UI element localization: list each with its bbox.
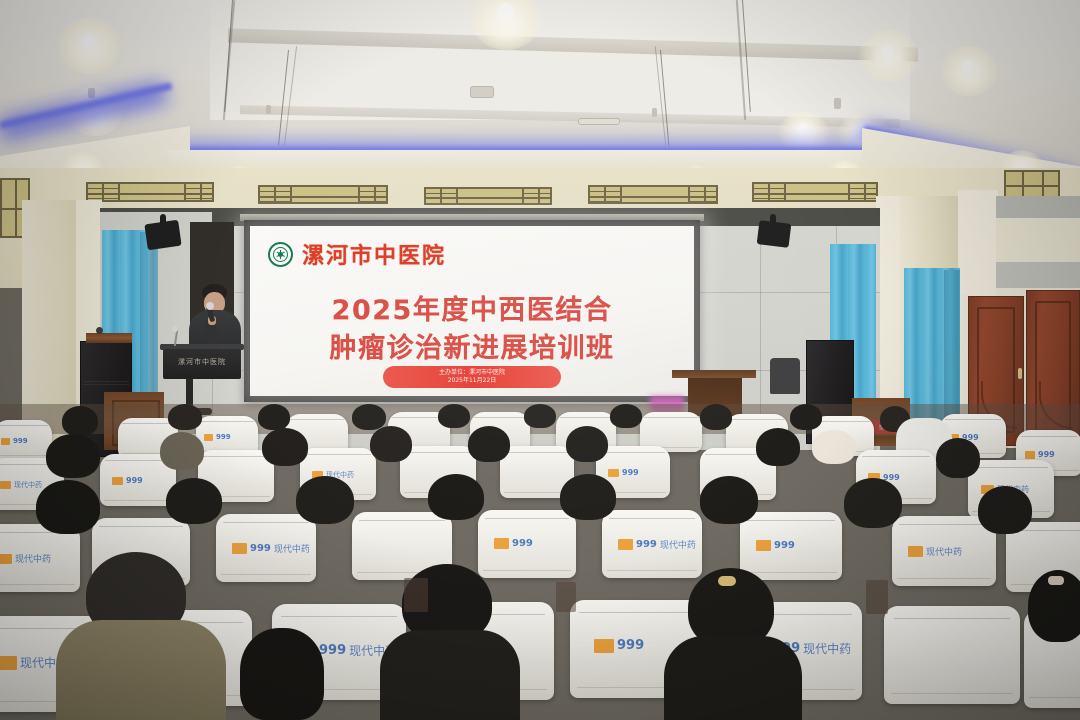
attendee-head: [262, 428, 308, 466]
brand-cn: 现代中药: [660, 538, 696, 551]
ceiling-spotlight-core: [798, 124, 808, 134]
brand-block: [0, 554, 12, 564]
screen-hospital-name: 漯河市中医院: [302, 238, 446, 270]
ceiling-spotlight-core: [882, 46, 894, 58]
chair-brand-logo: 现代中药: [0, 480, 42, 490]
projection-screen: 漯河市中医院 2025年度中西医结合 肿瘤诊治新进展培训班 主办单位：漯河市中医…: [250, 226, 694, 396]
brand-block: [608, 469, 619, 477]
attendee-torso-dark: [380, 630, 520, 720]
handheld-microphone-head: [206, 302, 214, 310]
attendee-head: [610, 404, 642, 428]
attendee-head: [428, 474, 484, 520]
attendee-head: [352, 404, 386, 430]
brand-block: [908, 546, 923, 557]
chair: [884, 606, 1020, 704]
stage-side-chair: [770, 358, 800, 394]
brand-cn: 现代中药: [274, 542, 310, 555]
chair-brand-logo: 现代中药: [0, 552, 51, 565]
attendee-torso-jacket: [56, 620, 226, 720]
brand-block: [1025, 451, 1035, 459]
lattice-panel-center: [424, 187, 552, 205]
brand-text: 999: [319, 643, 346, 658]
chair-brand-logo: 999 现代中药: [618, 538, 696, 551]
chair-brand-logo: 999: [1025, 450, 1055, 459]
brand-block: [232, 543, 247, 554]
brand-block: [112, 477, 123, 485]
attendee-head: [160, 432, 204, 470]
attendee-head: [166, 478, 222, 524]
brand-block: [618, 539, 633, 550]
screen-logo-row: 漯河市中医院: [268, 238, 446, 270]
brand-block: [594, 639, 614, 653]
screen-title-line2: 肿瘤诊治新进展培训班: [250, 326, 694, 365]
attendee-torso-dark: [664, 636, 802, 720]
hospital-emblem-icon: [268, 242, 293, 267]
chair-brand-logo: 现代中药: [908, 545, 962, 558]
hair-clip: [1048, 576, 1064, 585]
seat-gap-shadow: [556, 582, 576, 612]
attendee-head: [168, 404, 202, 430]
brand-block: [756, 540, 771, 551]
lattice-panel-left: [86, 182, 214, 202]
chair-brand-logo: 999 现代中药: [232, 542, 310, 555]
chair-brand-logo: 999: [204, 433, 231, 441]
ceiling-spotlight-core: [82, 34, 95, 47]
chair-brand-logo: 999: [112, 476, 143, 485]
attendee-head: [790, 404, 822, 430]
lattice-panel-right-2: [752, 182, 878, 202]
ceiling-sensor: [266, 105, 271, 114]
chair: 现代中药: [0, 524, 80, 592]
ceiling-panel-center: [210, 0, 910, 120]
conference-hall-photo: 漯河市中医院 2025年度中西医结合 肿瘤诊治新进展培训班 主办单位：漯河市中医…: [0, 0, 1080, 720]
attendee-head: [438, 404, 470, 428]
lattice-panel-left-2: [258, 185, 388, 204]
attendee-head: [370, 426, 412, 462]
screen-date-line: 2025年11月22日: [448, 377, 497, 385]
attendee-head: [756, 428, 800, 466]
attendee-head: [844, 478, 902, 528]
attendee-head: [560, 474, 616, 520]
brand-cn: 现代中药: [14, 480, 42, 490]
lattice-panel-right: [588, 185, 718, 204]
attendee-head: [36, 480, 100, 534]
attendee-head: [240, 628, 324, 720]
ceiling-sensor: [834, 98, 841, 109]
brand-text: 999: [617, 638, 644, 653]
brand-block: [204, 434, 213, 441]
hair-tie: [718, 576, 736, 586]
brand-text: 999: [774, 540, 795, 551]
attendee-head: [700, 404, 732, 430]
chair: 999 现代中药: [602, 510, 702, 578]
hanging-speaker-bracket-left: [160, 214, 166, 226]
podium-hospital-name: 漯河市中医院: [163, 357, 241, 367]
chair-brand-logo: 999: [608, 468, 639, 477]
wall-band-right-2: [996, 262, 1080, 288]
brand-cn: 现代中药: [926, 545, 962, 558]
attendee-head: [62, 406, 98, 436]
brand-text: 999: [250, 543, 271, 554]
brand-block: [0, 481, 11, 489]
brand-block: [1, 438, 10, 445]
screen-organizer-pill: 主办单位：漯河市中医院 2025年11月22日: [383, 366, 561, 388]
attendee-head: [978, 486, 1032, 534]
podium-mic-head: [172, 326, 178, 332]
chair: 999: [0, 420, 52, 460]
chair-brand-logo: 999: [756, 540, 795, 551]
brand-text: 999: [1038, 450, 1055, 459]
pa-speaker-seam: [83, 381, 129, 382]
brand-text: 999: [216, 433, 231, 441]
ceiling-spotlight-core: [497, 3, 514, 20]
chair-brand-logo: 999: [494, 538, 533, 549]
brand-block: [0, 656, 17, 670]
ceiling-spotlight: [940, 46, 998, 96]
wall-far-right: [996, 218, 1080, 262]
ceiling-vent-strip: [578, 118, 620, 125]
brand-cn: 现代中药: [803, 640, 851, 657]
chair-brand-logo: 999: [594, 638, 644, 653]
door-handle[interactable]: [1018, 368, 1022, 379]
chair: 现代中药: [892, 516, 996, 586]
attendee-head-cap: [812, 430, 856, 464]
chair: 999: [740, 512, 842, 580]
lattice-panel-far-right: [1004, 170, 1060, 198]
attendee-head: [258, 404, 290, 430]
curtain-left-shadow: [140, 232, 158, 416]
screen-title-line1: 2025年度中西医结合: [250, 288, 694, 327]
seat-gap-shadow: [404, 578, 428, 612]
audience-seating: 999 999 999 999: [0, 404, 1080, 720]
pa-speaker-seam: [83, 384, 129, 385]
screen-organizer-line: 主办单位：漯河市中医院: [439, 369, 505, 377]
attendee-head: [296, 476, 354, 524]
chair: 999 现代中药: [216, 514, 316, 582]
stage-side-table: [672, 370, 756, 378]
side-desk-mic-head: [96, 327, 103, 334]
side-desk-left: [86, 333, 132, 343]
brand-text: 999: [126, 476, 143, 485]
attendee-head: [524, 404, 556, 428]
attendee-head: [468, 426, 510, 462]
brand-text: 999: [13, 437, 28, 445]
chair: 999: [478, 510, 576, 578]
wall-band-right: [996, 196, 1080, 218]
ceiling-vent: [470, 86, 494, 98]
attendee-head: [566, 426, 608, 462]
attendee-head: [46, 434, 100, 478]
emblem-center-dot: [278, 252, 283, 257]
ceiling-spotlight-core: [962, 60, 973, 71]
brand-cn: 现代中药: [15, 552, 51, 565]
brand-text: 999: [512, 538, 533, 549]
brand-text: 999: [636, 539, 657, 550]
attendee-head: [936, 438, 980, 478]
ceiling-sensor: [652, 108, 657, 117]
hanging-speaker-bracket-right: [770, 214, 776, 226]
attendee-head: [700, 476, 758, 524]
seat-gap-shadow: [866, 580, 888, 614]
brand-text: 999: [622, 468, 639, 477]
chair-brand-logo: 999: [1, 437, 28, 445]
brand-block: [494, 538, 509, 549]
